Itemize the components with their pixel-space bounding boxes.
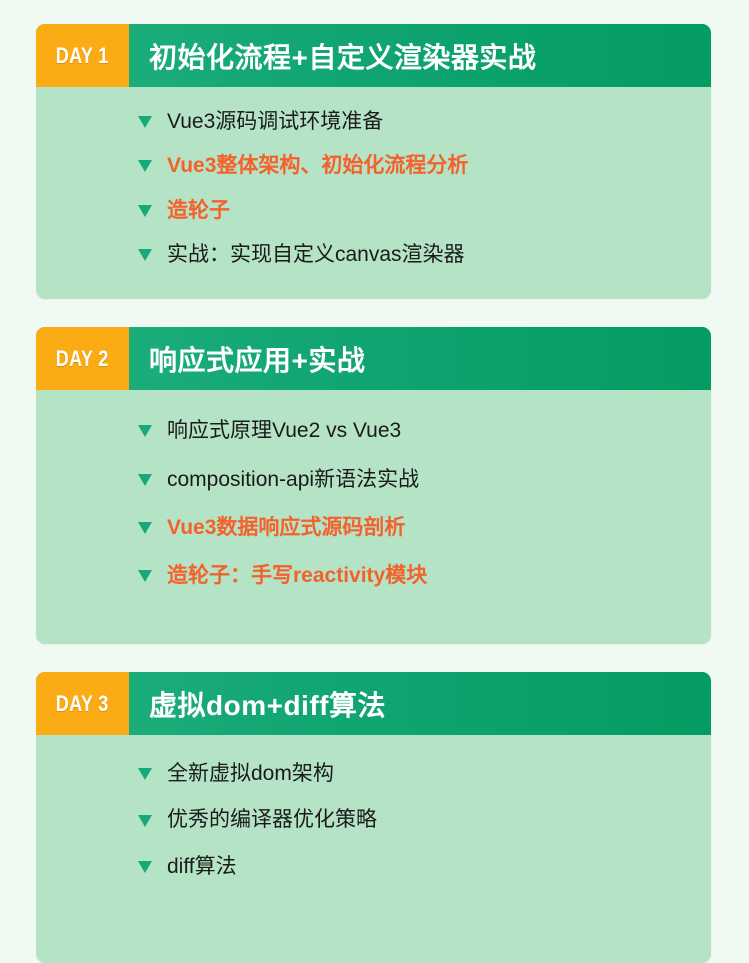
chevron-down-icon	[137, 204, 153, 218]
topic-label: Vue3整体架构、初始化流程分析	[167, 153, 468, 179]
chevron-down-icon	[137, 521, 153, 535]
chevron-down-icon	[137, 424, 153, 438]
day-card-2-header: DAY 2 响应式应用+实战	[36, 327, 711, 390]
day-badge-3: DAY 3	[36, 672, 129, 735]
day-badge-2: DAY 2	[36, 327, 129, 390]
topic-label: 优秀的编译器优化策略	[167, 807, 377, 833]
day-card-2-topics: 响应式原理Vue2 vs Vue3 composition-api新语法实战 V…	[36, 390, 711, 644]
day-card-3: DAY 3 虚拟dom+diff算法 全新虚拟dom架构 优秀的编译器优化策略	[36, 672, 711, 963]
topic-label: 实战：实现自定义canvas渲染器	[167, 242, 465, 268]
topic-label: 响应式原理Vue2 vs Vue3	[167, 418, 401, 444]
topic-row: Vue3源码调试环境准备	[137, 109, 687, 135]
chevron-down-icon	[137, 767, 153, 781]
day-badge-1-label: DAY 1	[56, 43, 109, 69]
day-card-1: DAY 1 初始化流程+自定义渲染器实战 Vue3源码调试环境准备 Vue3整体…	[36, 24, 711, 299]
topic-row: composition-api新语法实战	[137, 467, 687, 493]
day-card-1-header: DAY 1 初始化流程+自定义渲染器实战	[36, 24, 711, 87]
topic-label: 全新虚拟dom架构	[167, 761, 334, 787]
chevron-down-icon	[137, 115, 153, 129]
chevron-down-icon	[137, 473, 153, 487]
topic-label: Vue3数据响应式源码剖析	[167, 515, 405, 541]
topic-row: diff算法	[137, 854, 687, 880]
topic-row: 实战：实现自定义canvas渲染器	[137, 242, 687, 268]
chevron-down-icon	[137, 814, 153, 828]
day-card-3-header: DAY 3 虚拟dom+diff算法	[36, 672, 711, 735]
day-badge-3-label: DAY 3	[56, 691, 109, 717]
topic-label: diff算法	[167, 854, 237, 880]
topic-label: composition-api新语法实战	[167, 467, 419, 493]
topic-row: 全新虚拟dom架构	[137, 761, 687, 787]
day-badge-2-label: DAY 2	[56, 346, 109, 372]
chevron-down-icon	[137, 569, 153, 583]
day-card-2-title: 响应式应用+实战	[129, 327, 711, 390]
day-card-2: DAY 2 响应式应用+实战 响应式原理Vue2 vs Vue3 composi…	[36, 327, 711, 644]
chevron-down-icon	[137, 248, 153, 262]
topic-label: 造轮子：手写reactivity模块	[167, 563, 427, 589]
topic-row: Vue3整体架构、初始化流程分析	[137, 153, 687, 179]
day-badge-1: DAY 1	[36, 24, 129, 87]
day-card-3-title: 虚拟dom+diff算法	[129, 672, 711, 735]
course-syllabus: DAY 1 初始化流程+自定义渲染器实战 Vue3源码调试环境准备 Vue3整体…	[0, 0, 749, 963]
topic-label: Vue3源码调试环境准备	[167, 109, 383, 135]
chevron-down-icon	[137, 159, 153, 173]
day-card-3-topics: 全新虚拟dom架构 优秀的编译器优化策略 diff算法	[36, 735, 711, 963]
day-card-1-title: 初始化流程+自定义渲染器实战	[129, 24, 711, 87]
topic-row: 优秀的编译器优化策略	[137, 807, 687, 833]
topic-row: 造轮子	[137, 198, 687, 224]
topic-label: 造轮子	[167, 198, 230, 224]
topic-row: 响应式原理Vue2 vs Vue3	[137, 418, 687, 444]
chevron-down-icon	[137, 860, 153, 874]
topic-row: 造轮子：手写reactivity模块	[137, 563, 687, 589]
day-card-1-topics: Vue3源码调试环境准备 Vue3整体架构、初始化流程分析 造轮子 实战：实现自…	[36, 87, 711, 299]
topic-row: Vue3数据响应式源码剖析	[137, 515, 687, 541]
